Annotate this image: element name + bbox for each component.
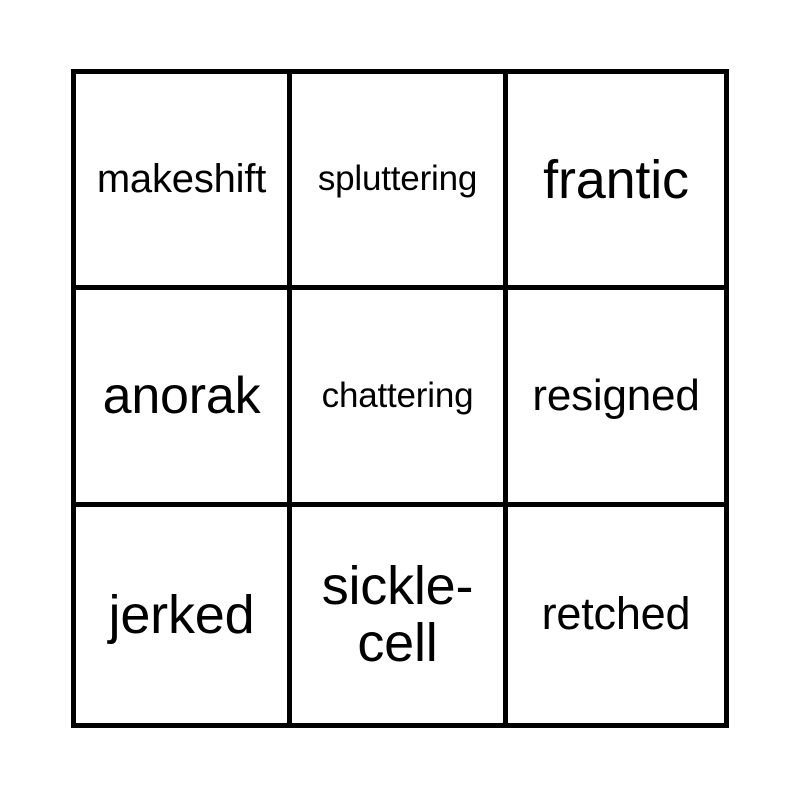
bingo-cell-r3c2[interactable]: sickle-cell [292,507,508,723]
bingo-cell-label: sickle-cell [292,558,503,672]
bingo-cell-r3c1[interactable]: jerked [76,507,292,723]
bingo-cell-r2c2[interactable]: chattering [292,290,508,506]
bingo-cell-r1c3[interactable]: frantic [508,74,724,290]
bingo-cell-label: makeshift [76,159,287,201]
bingo-cell-r2c1[interactable]: anorak [76,290,292,506]
bingo-cell-label: jerked [76,587,287,643]
bingo-cell-label: chattering [292,378,503,414]
bingo-card-grid: makeshift spluttering frantic anorak cha… [71,69,729,728]
bingo-cell-label: retched [508,591,724,638]
bingo-cell-r3c3[interactable]: retched [508,507,724,723]
bingo-cell-label: frantic [508,152,724,208]
bingo-cell-r2c3[interactable]: resigned [508,290,724,506]
bingo-cell-label: anorak [76,369,287,423]
bingo-cell-label: resigned [508,373,724,419]
bingo-cell-r1c1[interactable]: makeshift [76,74,292,290]
bingo-cell-label: spluttering [292,161,503,197]
bingo-cell-r1c2[interactable]: spluttering [292,74,508,290]
